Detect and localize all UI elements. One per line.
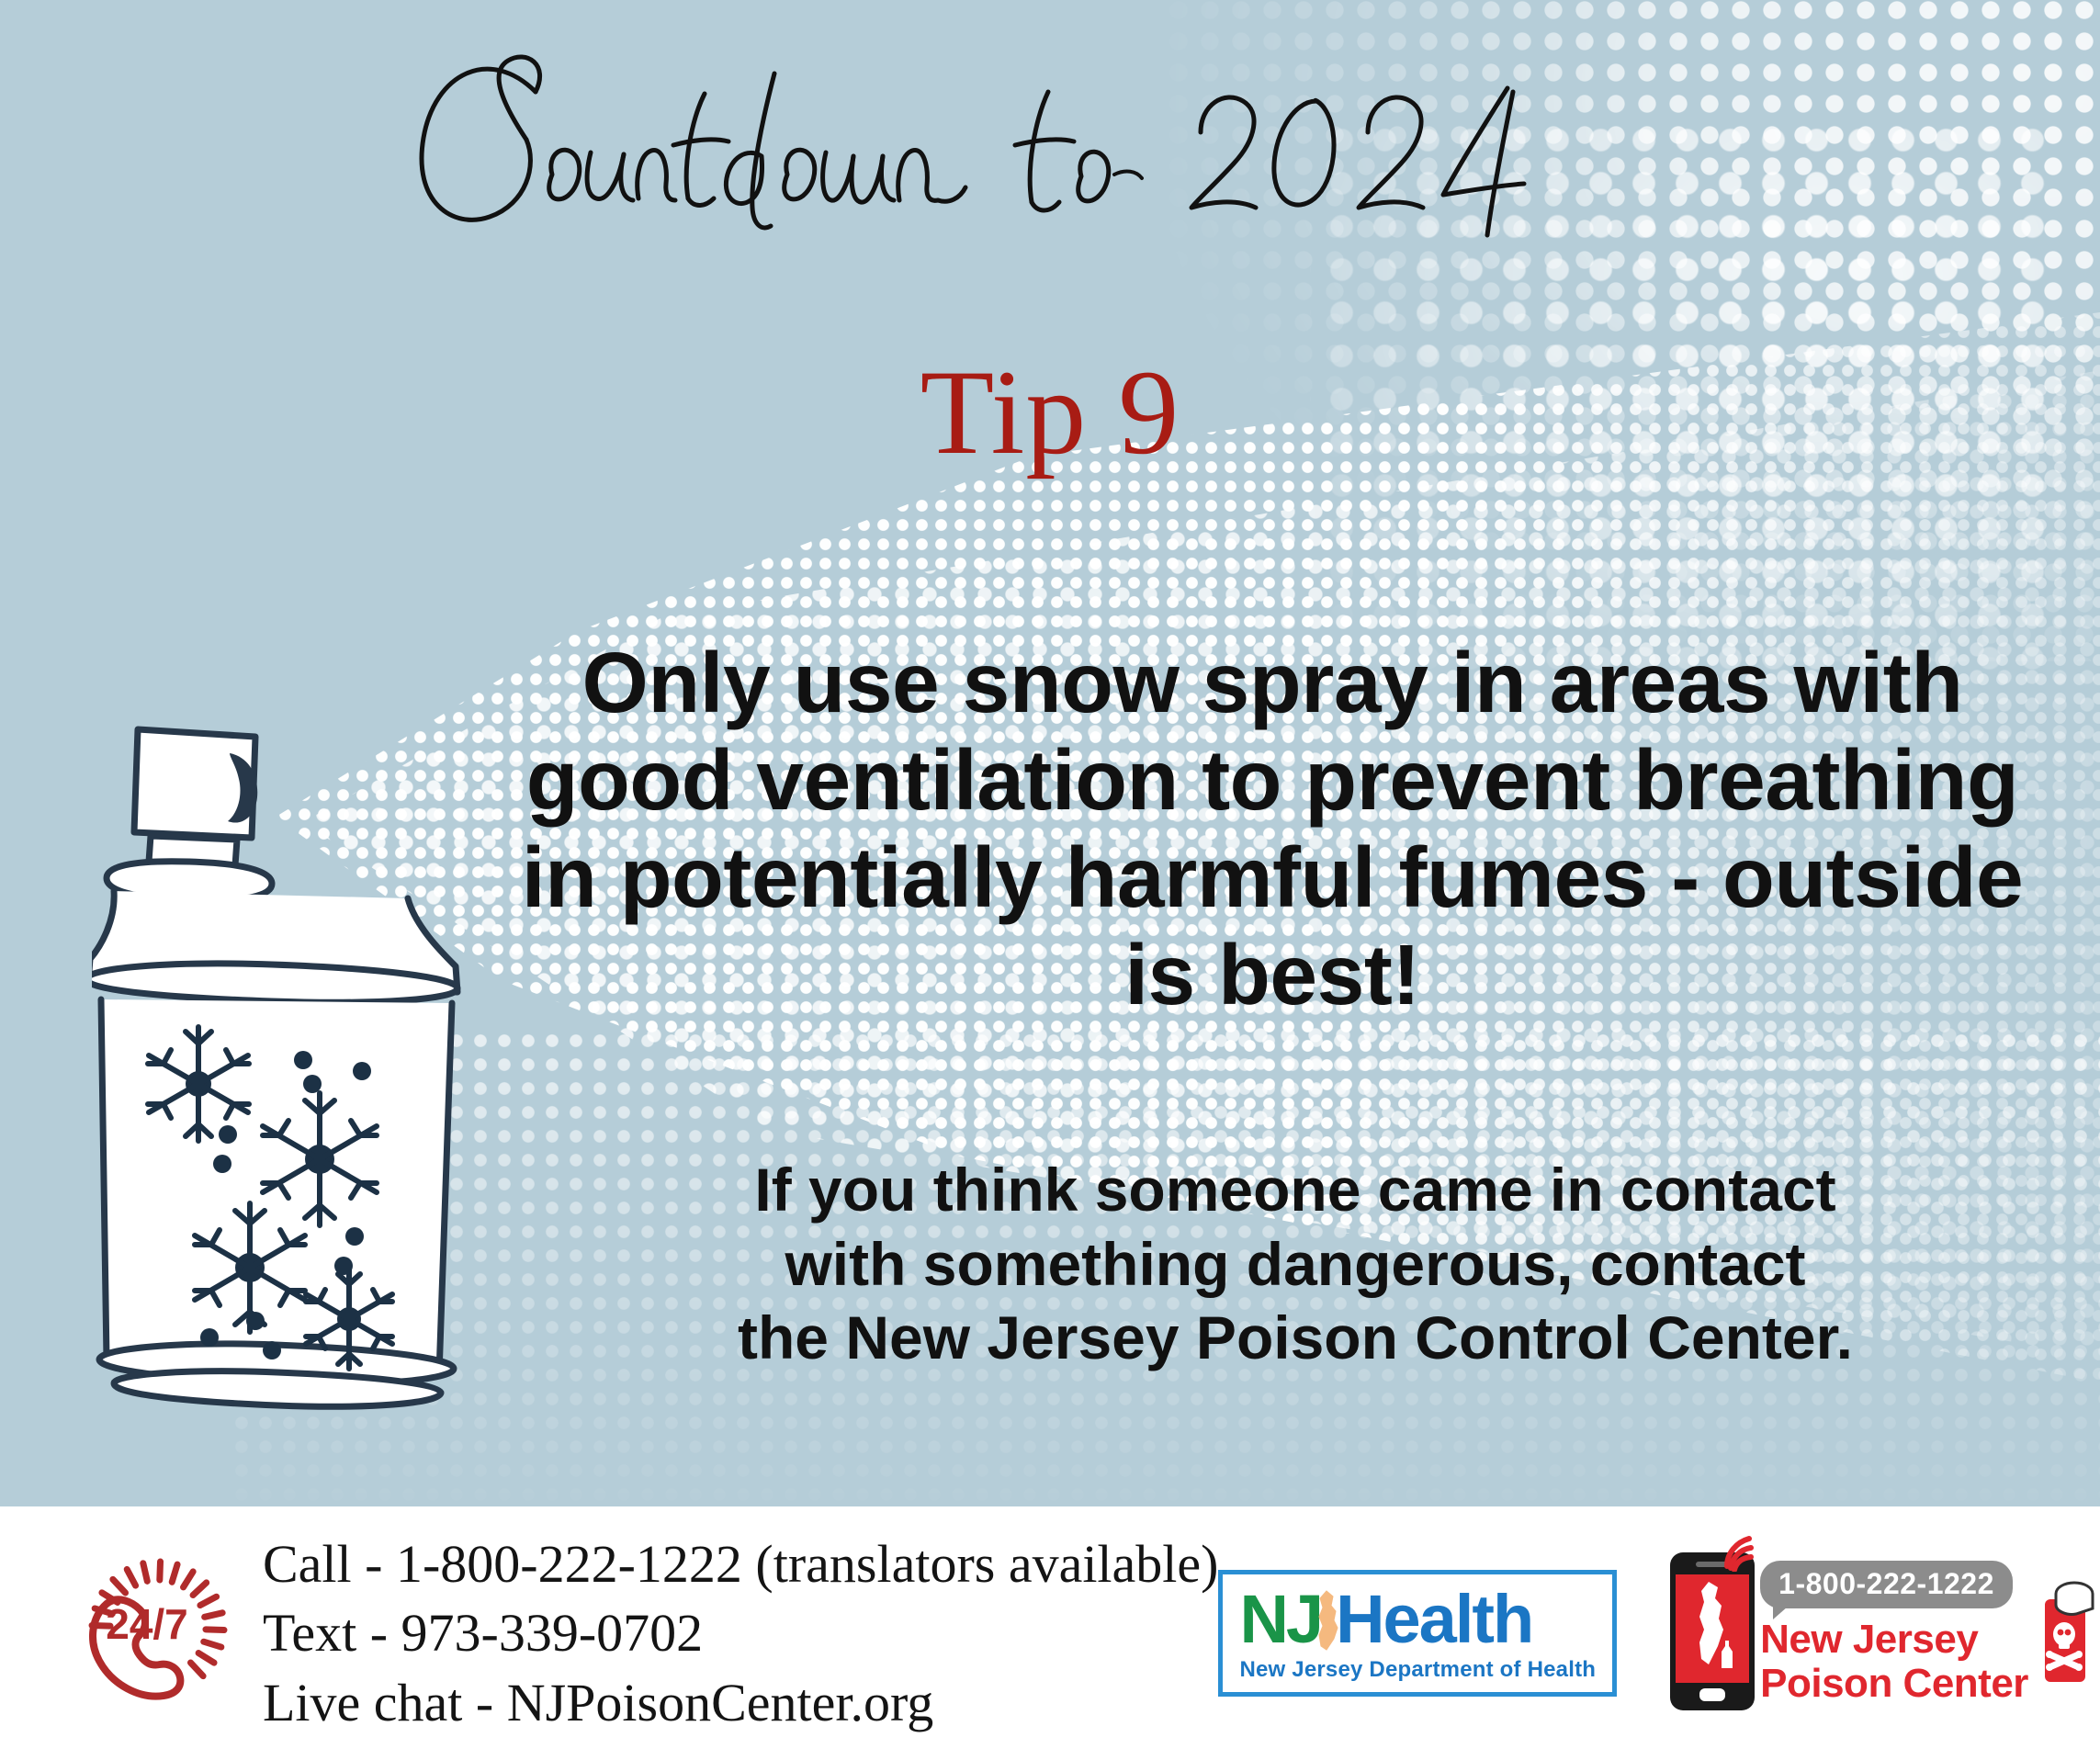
poison-center-name-line2: Poison Center (1760, 1662, 2028, 1706)
contact-line-text[interactable]: Text - 973-339-0702 (263, 1598, 1218, 1667)
nj-health-subtitle: New Jersey Department of Health (1239, 1657, 1596, 1683)
wifi-signal-icon (1718, 1528, 1767, 1576)
nj-health-logo[interactable]: NJ Health New Jersey Department of Healt… (1218, 1570, 1617, 1697)
sub-line-2: with something dangerous, contact (514, 1227, 2076, 1302)
body-line-4: is best! (478, 926, 2067, 1023)
poison-bottle-icon (2036, 1572, 2100, 1696)
poster-title: Countdown to 2024 (0, 37, 2100, 248)
contact-info-lines: Call - 1-800-222-1222 (translators avail… (263, 1529, 1218, 1737)
24-7-label: 24/7 (106, 1600, 188, 1648)
contact-line-livechat[interactable]: Live chat - NJPoisonCenter.org (263, 1668, 1218, 1737)
snow-spray-can-illustration (92, 716, 496, 1461)
nj-poison-center-text-group: 1-800-222-1222 New (1760, 1561, 2028, 1707)
sub-line-1: If you think someone came in contact (514, 1153, 2076, 1227)
body-line-2: good ventilation to prevent breathing (478, 731, 2067, 829)
new-jersey-state-icon (1314, 1589, 1341, 1655)
sub-line-3: the New Jersey Poison Control Center. (514, 1301, 2076, 1375)
nj-health-wordmark: NJ Health (1239, 1585, 1596, 1653)
body-copy-sub: If you think someone came in contact wit… (514, 1153, 2076, 1375)
nj-health-health-text: Health (1336, 1585, 1532, 1653)
24-7-phone-icon: 24/7 (79, 1552, 235, 1713)
tip-heading: Tip 9 (0, 349, 2100, 477)
footer-contact-group: 24/7 Call - 1-800-222-1222 (translators … (0, 1529, 1218, 1737)
nj-poison-center-logo[interactable]: 1-800-222-1222 New (1668, 1551, 2100, 1717)
footer-contact-bar: 24/7 Call - 1-800-222-1222 (translators … (0, 1506, 2100, 1760)
body-line-1: Only use snow spray in areas with (478, 634, 2067, 731)
footer-logo-group: NJ Health New Jersey Department of Healt… (1218, 1551, 2100, 1717)
contact-line-call[interactable]: Call - 1-800-222-1222 (translators avail… (263, 1529, 1218, 1598)
poster-canvas: Countdown to 2024 (0, 0, 2100, 1506)
poison-hotline-bubble[interactable]: 1-800-222-1222 (1760, 1561, 2013, 1608)
poster: Countdown to 2024 (0, 0, 2100, 1760)
body-line-3: in potentially harmful fumes - outside (478, 829, 2067, 926)
body-copy-main: Only use snow spray in areas with good v… (478, 634, 2067, 1023)
poison-center-name-line1: New Jersey (1760, 1618, 2028, 1662)
nj-poison-center-name: New Jersey Poison Center (1760, 1618, 2028, 1707)
nj-health-nj-text: NJ (1239, 1585, 1321, 1653)
